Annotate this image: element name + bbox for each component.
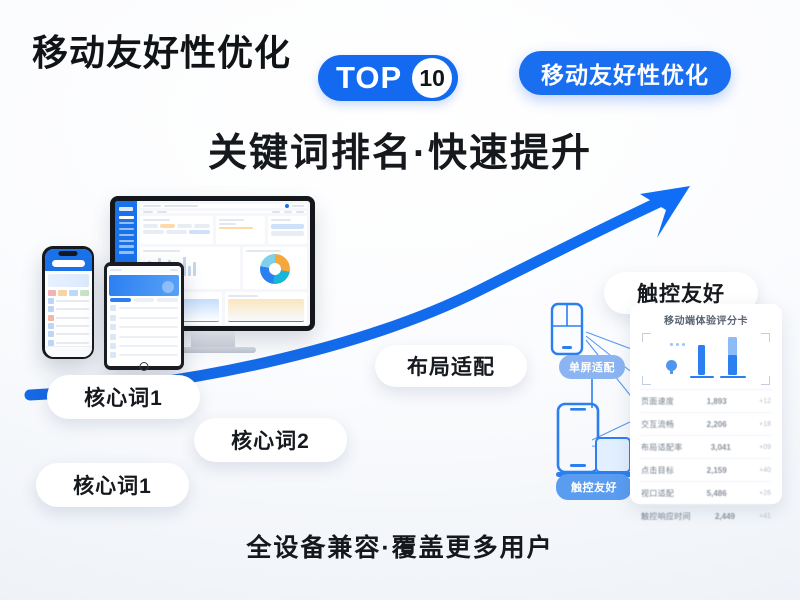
table-row: 交互流畅 2,206 +18 [640,412,772,435]
list-item [48,315,89,321]
list-item [110,334,178,340]
row-value: 1,893 [707,397,727,406]
topbar-user [292,205,304,207]
list-item [48,331,89,337]
touch-friendly-diagram: 单屏适配 触控友好 移动端体验评分卡 页面速度 1,893 +12 [534,300,784,510]
topbar-search [164,205,198,207]
filter-card [140,216,213,244]
row-label: 布局适配率 [641,442,683,453]
list-item [48,323,89,329]
list-item [48,298,89,304]
donut-chart [260,254,290,284]
keyword-pill-1[interactable]: 核心词1 [47,375,200,419]
top-badge-number: 10 [412,58,452,98]
list-item [110,352,178,358]
sidebar-nav-item [119,245,134,248]
row-delta: +18 [759,421,771,428]
tablet-screen [107,266,181,366]
diagram-pill-touch-friendly: 触控友好 [556,474,632,500]
phone-screen [45,249,92,357]
keyword-pill-3[interactable]: 核心词1 [36,463,189,507]
score-card-title: 移动端体验评分卡 [640,312,772,327]
row-delta: +26 [759,490,771,497]
topbar-avatar [285,204,289,208]
mobile-score-card: 移动端体验评分卡 页面速度 1,893 +12 交互流畅 2,206 [630,304,782,504]
row-value: 2,159 [707,466,727,475]
chart-baseline [720,376,746,379]
monitor-stand [191,331,235,347]
row-delta: +09 [759,444,771,451]
header-blue-pill: 移动友好性优化 [519,51,731,95]
row-value: 3,041 [711,443,731,452]
chart-baseline [690,376,714,379]
row-label: 触控响应时间 [641,511,691,522]
table-row: 点击目标 2,159 +40 [640,458,772,481]
tablet-tabs [110,298,178,302]
large-phone-icon [558,404,598,472]
row-label: 页面速度 [641,396,674,407]
sidebar-nav-item [119,228,134,231]
row-label: 点击目标 [641,465,674,476]
sidebar-nav-item [119,240,134,243]
smartphone-mockup [42,246,94,359]
tablet-home-button [140,362,149,371]
area-card-right [225,292,307,325]
small-phone-icon [552,304,582,354]
poster-canvas: 移动友好性优化 TOP 10 移动友好性优化 关键词排名·快速提升 [0,0,800,600]
row-label: 交互流畅 [641,419,674,430]
chart-bar [728,355,737,375]
topbar-crumb [143,205,161,207]
tablet-topbar [107,266,181,273]
sidebar-nav-item [119,222,134,225]
dashboard-logo [119,207,133,211]
tablet-banner [109,275,179,296]
diagram-pill-single-screen: 单屏适配 [559,355,625,379]
table-row: 页面速度 1,893 +12 [640,389,772,412]
area-chart [228,299,304,322]
table-row: 触控响应时间 2,449 +41 [640,504,772,527]
page-kicker: 移动友好性优化 [32,24,291,76]
list-item [48,306,89,312]
phone-banner [48,274,89,287]
keyword-pill-2[interactable]: 核心词2 [194,418,347,462]
row-value: 2,449 [715,512,735,521]
donut-card [243,247,307,289]
stat-card [216,216,265,244]
phone-icon-grid [48,290,89,296]
dashboard-topbar [140,204,307,208]
meter-card [268,216,307,244]
list-item [110,305,178,311]
phone-notch [59,251,78,256]
dashboard-filter-row [140,216,307,244]
top-badge-word: TOP [336,60,412,96]
sidebar-nav-item [119,216,134,219]
page-footer-text: 全设备兼容·覆盖更多用户 [0,528,800,564]
chart-bar [698,345,705,375]
row-delta: +40 [759,467,771,474]
dashboard-tabs [140,211,307,213]
list-item [110,315,178,321]
phone-tabbar [45,346,92,357]
score-card-chart [642,333,770,385]
table-row: 布局适配率 3,041 +09 [640,435,772,458]
row-delta: +41 [759,513,771,520]
row-label: 视口适配 [641,488,674,499]
phone-search-bar [52,260,85,267]
sidebar-nav-item [119,251,134,254]
row-value: 2,206 [707,420,727,429]
sidebar-nav-item [119,234,134,237]
callout-layout-adaptation[interactable]: 布局适配 [375,345,527,387]
chart-dots [670,343,685,346]
row-value: 5,486 [707,489,727,498]
top-rank-badge: TOP 10 [318,55,458,101]
chart-bulb-icon [666,360,677,371]
list-item [110,343,178,349]
table-row: 视口适配 5,486 +26 [640,481,772,504]
row-delta: +12 [759,398,771,405]
list-item [110,324,178,330]
tablet-mockup [104,262,184,370]
